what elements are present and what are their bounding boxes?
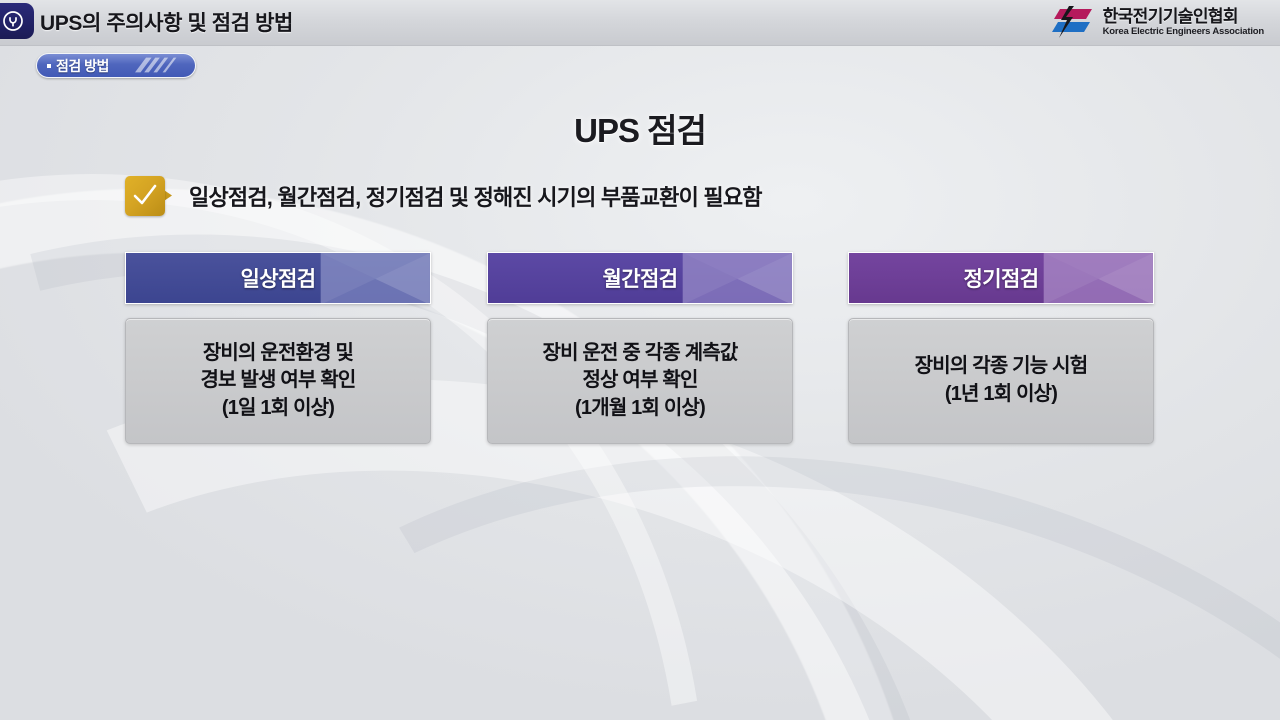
slide-title: UPS 점검 bbox=[0, 104, 1280, 152]
plug-circle-icon bbox=[0, 3, 34, 39]
association-logo: 한국전기기술인협회 Korea Electric Engineers Assoc… bbox=[1048, 6, 1264, 38]
column-body-daily: 장비의 운전환경 및 경보 발생 여부 확인 (1일 1회 이상) bbox=[125, 318, 431, 444]
bullet-row: 일상점검, 월간점검, 정기점검 및 정해진 시기의 부품교환이 필요함 bbox=[125, 176, 762, 216]
column-body-periodic: 장비의 각종 기능 시험 (1년 1회 이상) bbox=[848, 318, 1154, 444]
column-text-line: (1일 1회 이상) bbox=[222, 395, 334, 423]
section-pill-label: 점검 방법 bbox=[56, 56, 109, 76]
pill-bullet-icon bbox=[47, 64, 51, 68]
column-text-line: (1년 1회 이상) bbox=[945, 381, 1057, 409]
column-text-line: 경보 발생 여부 확인 bbox=[200, 367, 355, 395]
inspection-column-monthly: 월간점검 장비 운전 중 각종 계측값 정상 여부 확인 (1개월 1회 이상) bbox=[487, 252, 793, 444]
pill-streak-decoration bbox=[127, 54, 189, 77]
column-text-line: 장비 운전 중 각종 계측값 bbox=[542, 340, 737, 368]
check-mark-icon bbox=[132, 183, 158, 209]
column-header-monthly: 월간점검 bbox=[487, 252, 793, 304]
slide-canvas: UPS의 주의사항 및 점검 방법 한국전기기술인협회 Korea Electr… bbox=[0, 0, 1280, 720]
logo-korean-name: 한국전기기술인협회 bbox=[1103, 8, 1264, 25]
column-text-line: 정상 여부 확인 bbox=[582, 367, 697, 395]
top-header-bar: UPS의 주의사항 및 점검 방법 한국전기기술인협회 Korea Electr… bbox=[0, 0, 1280, 46]
logo-english-name: Korea Electric Engineers Association bbox=[1103, 27, 1264, 37]
column-text-line: (1개월 1회 이상) bbox=[575, 395, 705, 423]
kea-lightning-mark bbox=[1048, 6, 1094, 38]
check-badge-icon bbox=[125, 176, 175, 216]
section-pill-badge: 점검 방법 bbox=[36, 53, 196, 78]
column-header-periodic: 정기점검 bbox=[848, 252, 1154, 304]
column-text-line: 장비의 각종 기능 시험 bbox=[915, 353, 1088, 381]
bullet-text: 일상점검, 월간점검, 정기점검 및 정해진 시기의 부품교환이 필요함 bbox=[189, 180, 762, 212]
column-body-monthly: 장비 운전 중 각종 계측값 정상 여부 확인 (1개월 1회 이상) bbox=[487, 318, 793, 444]
inspection-column-daily: 일상점검 장비의 운전환경 및 경보 발생 여부 확인 (1일 1회 이상) bbox=[125, 252, 431, 444]
column-header-label: 일상점검 bbox=[241, 263, 316, 293]
column-header-daily: 일상점검 bbox=[125, 252, 431, 304]
column-text-line: 장비의 운전환경 및 bbox=[203, 340, 353, 368]
page-title: UPS의 주의사항 및 점검 방법 bbox=[40, 7, 293, 37]
column-header-label: 월간점검 bbox=[603, 263, 678, 293]
inspection-column-periodic: 정기점검 장비의 각종 기능 시험 (1년 1회 이상) bbox=[848, 252, 1154, 444]
column-header-label: 정기점검 bbox=[964, 263, 1039, 293]
